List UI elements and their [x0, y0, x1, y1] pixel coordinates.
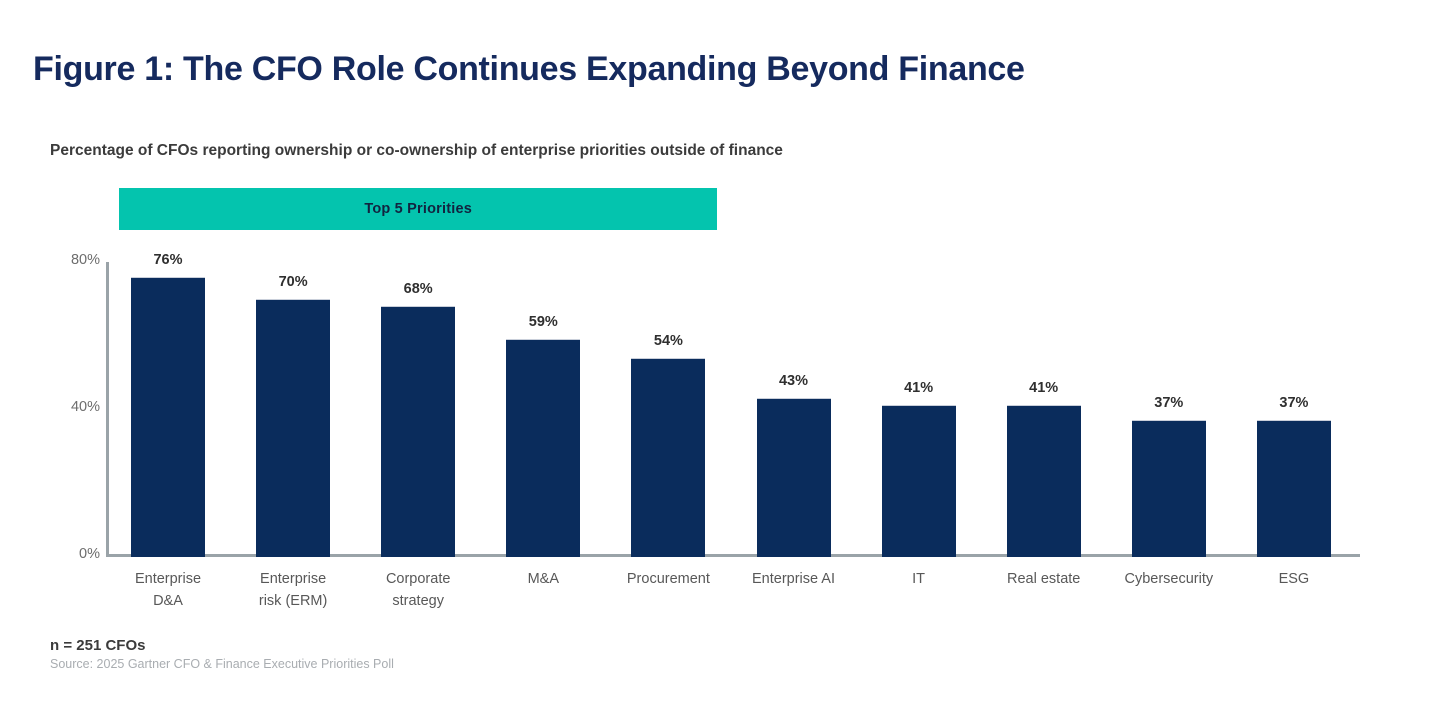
x-axis-category-label-line2: risk (ERM) [259, 593, 327, 609]
x-axis-category-label: Corporatestrategy [359, 568, 477, 612]
source-note: Source: 2025 Gartner CFO & Finance Execu… [50, 657, 394, 671]
x-axis-category-label-line2: strategy [392, 593, 444, 609]
bar[interactable] [1007, 405, 1081, 557]
x-axis-category-label: Cybersecurity [1110, 568, 1228, 590]
bar-value-label: 41% [1007, 380, 1081, 396]
x-axis-category-label: ESG [1235, 568, 1353, 590]
x-axis-category-label: Procurement [609, 568, 727, 590]
x-axis-category-label-line2: D&A [153, 593, 183, 609]
bar-value-label: 37% [1257, 395, 1331, 411]
bar[interactable] [1132, 420, 1206, 557]
bar-value-label: 43% [757, 373, 831, 389]
x-axis-category-label: EnterpriseD&A [109, 568, 227, 612]
bar-value-label: 59% [506, 314, 580, 330]
bar[interactable] [1257, 420, 1331, 557]
bar[interactable] [631, 358, 705, 557]
y-axis-line [106, 262, 109, 557]
bar[interactable] [256, 299, 330, 557]
bar-value-label: 76% [131, 252, 205, 268]
bar-chart-plot: 0%40%80%76%EnterpriseD&A70%Enterpriseris… [0, 0, 1440, 704]
bar-value-label: 54% [631, 333, 705, 349]
bar-value-label: 68% [381, 281, 455, 297]
y-axis-tick-label: 40% [38, 399, 100, 415]
x-axis-category-label: M&A [484, 568, 602, 590]
x-axis-category-label: Enterpriserisk (ERM) [234, 568, 352, 612]
x-axis-category-label: Real estate [985, 568, 1103, 590]
bar[interactable] [381, 306, 455, 557]
bar-value-label: 41% [882, 380, 956, 396]
bar[interactable] [882, 405, 956, 557]
x-axis-category-label: Enterprise AI [735, 568, 853, 590]
bar[interactable] [506, 339, 580, 557]
bar[interactable] [131, 277, 205, 557]
y-axis-tick-label: 80% [38, 252, 100, 268]
sample-size-note: n = 251 CFOs [50, 637, 145, 654]
bar-value-label: 37% [1132, 395, 1206, 411]
bar-value-label: 70% [256, 274, 330, 290]
figure-container: Figure 1: The CFO Role Continues Expandi… [0, 0, 1440, 704]
bar[interactable] [757, 398, 831, 557]
y-axis-tick-label: 0% [38, 546, 100, 562]
x-axis-category-label: IT [860, 568, 978, 590]
